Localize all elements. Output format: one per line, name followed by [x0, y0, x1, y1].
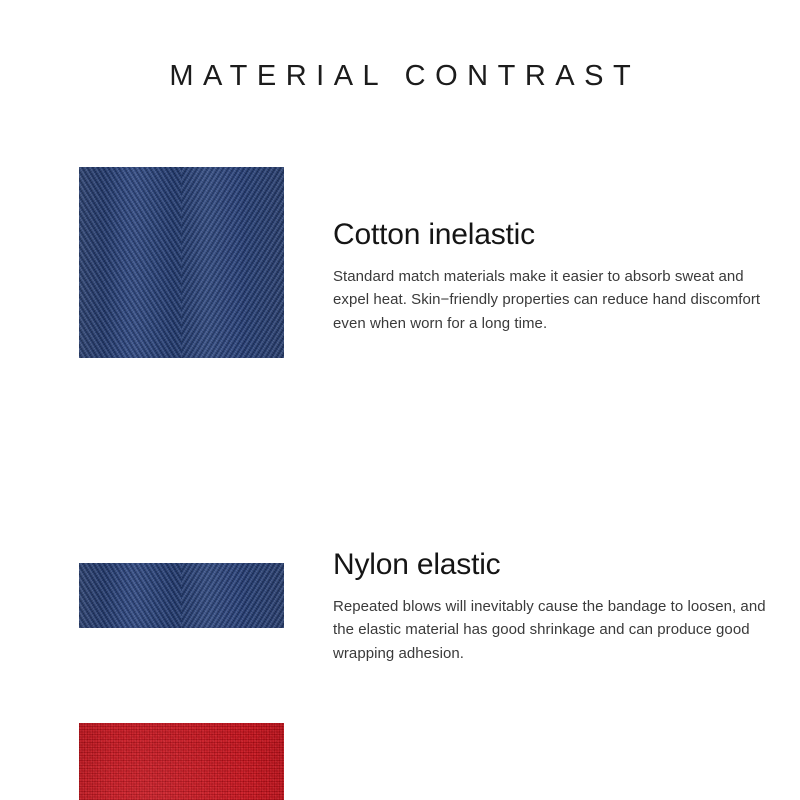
fabric-shading-overlay	[79, 723, 284, 800]
herringbone-weave-left-half	[79, 563, 182, 628]
nylon-description: Repeated blows will inevitably cause the…	[333, 595, 783, 666]
nylon-heading: Nylon elastic	[333, 548, 783, 582]
herringbone-weave-right-half	[182, 167, 285, 358]
herringbone-weave-right-half	[182, 563, 285, 628]
material-contrast-infographic: MATERIAL CONTRAST Cotton inelastic Stand…	[0, 0, 800, 800]
cotton-fabric-swatch-large	[79, 167, 284, 358]
cotton-heading: Cotton inelastic	[333, 218, 783, 252]
cotton-info-block: Cotton inelastic Standard match material…	[333, 218, 783, 336]
nylon-info-block: Nylon elastic Repeated blows will inevit…	[333, 548, 783, 666]
cotton-fabric-swatch-strip	[79, 563, 284, 628]
herringbone-weave-left-half	[79, 167, 182, 358]
cotton-description: Standard match materials make it easier …	[333, 265, 783, 336]
nylon-fabric-swatch	[79, 723, 284, 800]
page-title: MATERIAL CONTRAST	[0, 60, 800, 93]
